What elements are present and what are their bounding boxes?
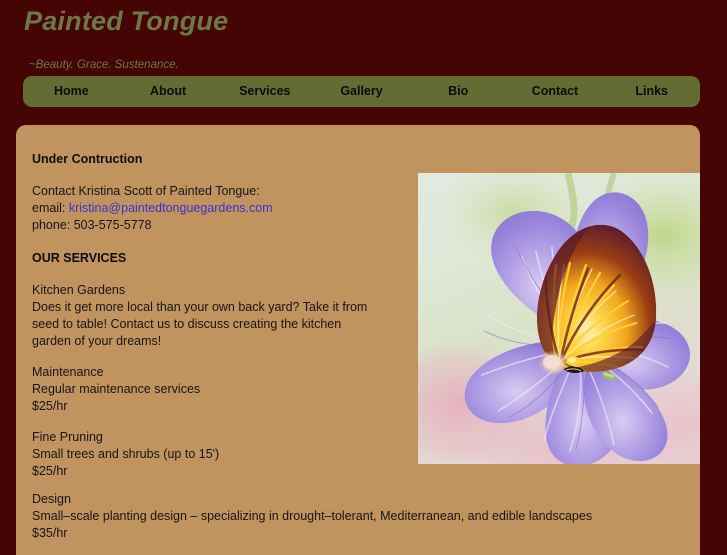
site-tagline: ~Beauty. Grace. Sustenance. [29, 59, 179, 71]
nav-item-bio[interactable]: Bio [410, 76, 507, 107]
spacer [32, 167, 382, 183]
spacer [32, 234, 382, 250]
nav-item-links[interactable]: Links [603, 76, 700, 107]
contact-intro-line: Contact Kristina Scott of Painted Tongue… [32, 183, 382, 200]
nav-item-about[interactable]: About [120, 76, 217, 107]
our-services-heading: OUR SERVICES [32, 250, 382, 266]
nav-item-contact[interactable]: Contact [507, 76, 604, 107]
service-name: Maintenance [32, 364, 382, 381]
main-navigation: Home About Services Gallery Bio Contact … [23, 76, 700, 107]
email-label: email: [32, 201, 65, 215]
content-panel: Under Contruction Contact Kristina Scott… [16, 125, 700, 555]
service-name: Fine Pruning [32, 429, 382, 446]
service-name: Design [32, 491, 682, 508]
flower-photo [418, 173, 700, 464]
nav-item-gallery[interactable]: Gallery [313, 76, 410, 107]
site-header: Painted Tongue ~Beauty. Grace. Sustenanc… [0, 0, 727, 76]
service-item-design: Design Small–scale planting design – spe… [32, 491, 682, 542]
service-description: Does it get more local than your own bac… [32, 299, 382, 350]
contact-phone-line: phone: 503-575-5778 [32, 217, 382, 234]
service-price: $25/hr [32, 398, 382, 415]
service-description: Regular maintenance services [32, 381, 382, 398]
service-description: Small–scale planting design – specializi… [32, 508, 682, 525]
page-root: Painted Tongue ~Beauty. Grace. Sustenanc… [0, 0, 727, 545]
nav-item-home[interactable]: Home [23, 76, 120, 107]
service-description: Small trees and shrubs (up to 15') [32, 446, 382, 463]
spacer [32, 266, 382, 282]
nav-item-services[interactable]: Services [216, 76, 313, 107]
service-item-fine-pruning: Fine Pruning Small trees and shrubs (up … [32, 429, 382, 480]
contact-email-line: email: kristina@paintedtonguegardens.com [32, 200, 382, 217]
service-price: $35/hr [32, 525, 682, 542]
service-name: Kitchen Gardens [32, 282, 382, 299]
spacer [32, 415, 382, 429]
under-construction-heading: Under Contruction [32, 151, 382, 167]
service-price: $25/hr [32, 463, 382, 480]
spacer [32, 350, 382, 364]
flower-illustration [418, 173, 700, 464]
content-text-column: Under Contruction Contact Kristina Scott… [32, 151, 382, 480]
service-item-kitchen-gardens: Kitchen Gardens Does it get more local t… [32, 282, 382, 350]
service-item-maintenance: Maintenance Regular maintenance services… [32, 364, 382, 415]
email-link[interactable]: kristina@paintedtonguegardens.com [69, 201, 273, 215]
site-title: Painted Tongue [24, 6, 228, 37]
